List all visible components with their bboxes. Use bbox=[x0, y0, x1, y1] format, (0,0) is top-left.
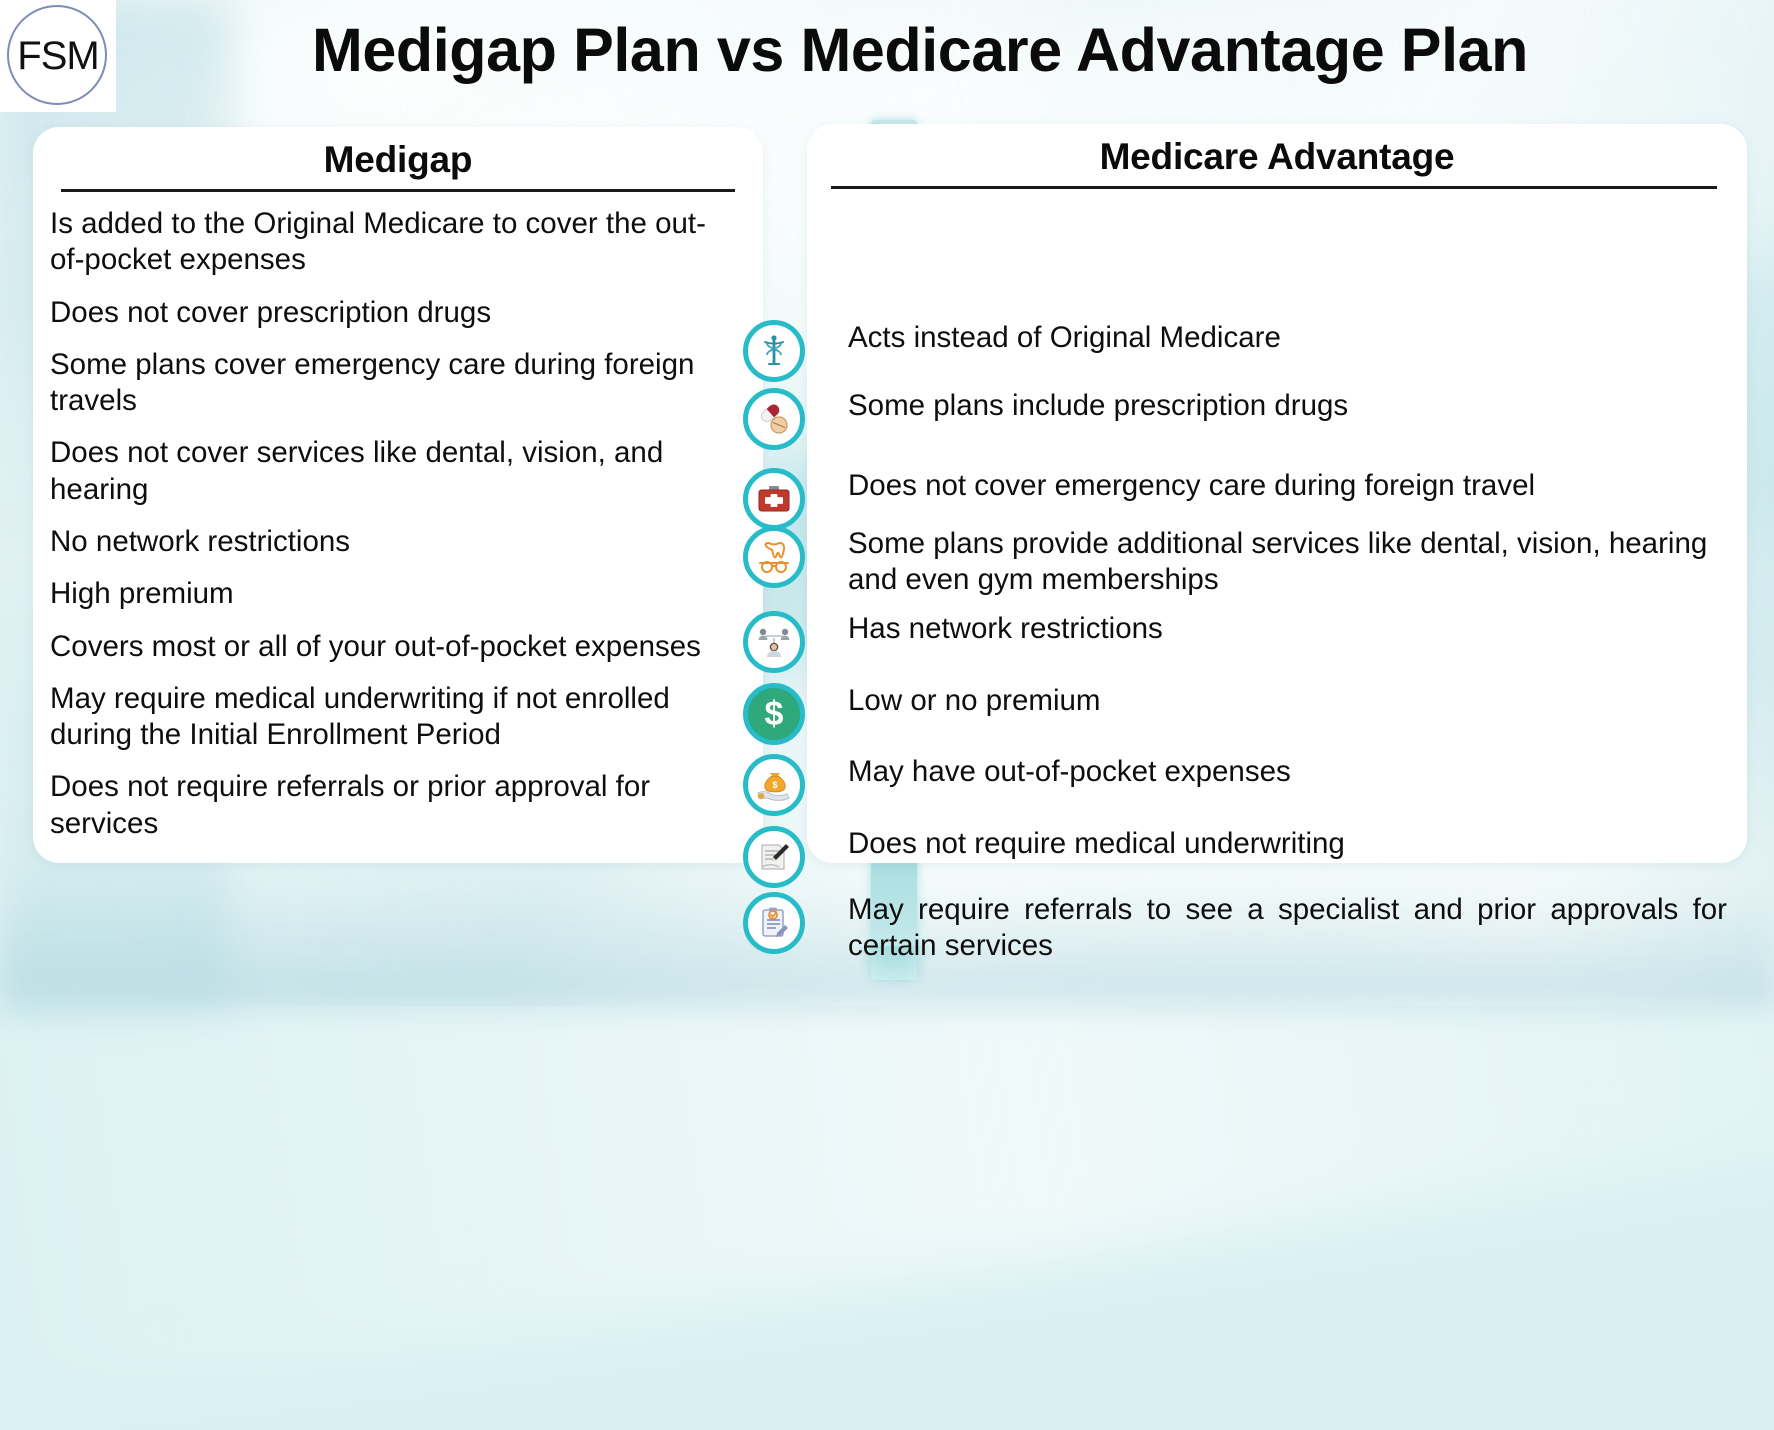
medicare-advantage-feature-text: Does not require medical underwriting bbox=[807, 826, 1747, 862]
medicare-advantage-feature-text: Some plans provide additional services l… bbox=[807, 526, 1747, 599]
clipboard-approval-icon bbox=[743, 892, 805, 954]
logo-text: FSM bbox=[0, 0, 116, 112]
medicare-advantage-feature-row: Does not require medical underwriting bbox=[807, 826, 1747, 862]
medicare-advantage-feature-list: Acts instead of Original Medicare Some p… bbox=[807, 313, 1747, 863]
dollar-coin-icon: $ bbox=[743, 683, 805, 745]
money-bag-hand-icon: $ bbox=[743, 754, 805, 816]
medicare-advantage-feature-text: May require referrals to see a specialis… bbox=[807, 892, 1747, 965]
medicare-advantage-feature-row: Has network restrictions bbox=[807, 611, 1747, 647]
medigap-feature-item: Does not require referrals or prior appr… bbox=[50, 769, 739, 842]
caduceus-icon bbox=[743, 320, 805, 382]
medicare-advantage-feature-text: Some plans include prescription drugs bbox=[807, 388, 1747, 424]
medicare-advantage-feature-text: May have out-of-pocket expenses bbox=[807, 754, 1747, 790]
medicare-advantage-feature-row: Does not cover emergency care during for… bbox=[807, 468, 1747, 504]
medicare-advantage-feature-text: Low or no premium bbox=[807, 683, 1747, 719]
medicare-advantage-feature-row: Some plans provide additional services l… bbox=[807, 526, 1747, 599]
medigap-feature-item: Does not cover services like dental, vis… bbox=[50, 435, 739, 508]
medigap-feature-list: Is added to the Original Medicare to cov… bbox=[33, 192, 763, 842]
medicare-advantage-heading-rule bbox=[831, 186, 1717, 189]
medicare-advantage-feature-row: May require referrals to see a specialis… bbox=[807, 892, 1747, 965]
pills-icon bbox=[743, 388, 805, 450]
medicare-advantage-feature-row: Some plans include prescription drugs bbox=[807, 388, 1747, 424]
first-aid-kit-icon bbox=[743, 468, 805, 530]
medigap-heading: Medigap bbox=[33, 127, 763, 181]
medicare-advantage-feature-text: Does not cover emergency care during for… bbox=[807, 468, 1747, 504]
medigap-feature-item: Does not cover prescription drugs bbox=[50, 295, 739, 331]
medigap-feature-item: No network restrictions bbox=[50, 524, 739, 560]
page-title: Medigap Plan vs Medicare Advantage Plan bbox=[140, 20, 1700, 81]
medicare-advantage-heading: Medicare Advantage bbox=[807, 124, 1747, 178]
medigap-feature-item: Some plans cover emergency care during f… bbox=[50, 347, 739, 420]
fsm-logo: FSM bbox=[0, 0, 116, 112]
svg-text:$: $ bbox=[772, 780, 777, 790]
dollar-sign-glyph: $ bbox=[765, 697, 784, 731]
document-pen-icon bbox=[743, 826, 805, 888]
medicare-advantage-feature-text: Acts instead of Original Medicare bbox=[807, 320, 1747, 356]
dental-vision-icon bbox=[743, 526, 805, 588]
network-people-icon bbox=[743, 611, 805, 673]
medigap-feature-item: High premium bbox=[50, 576, 739, 612]
medicare-advantage-feature-text: Has network restrictions bbox=[807, 611, 1747, 647]
medigap-feature-item: Covers most or all of your out-of-pocket… bbox=[50, 629, 739, 665]
medicare-advantage-feature-row: $Low or no premium bbox=[807, 683, 1747, 719]
medigap-feature-item: Is added to the Original Medicare to cov… bbox=[50, 206, 739, 279]
medigap-card: Medigap Is added to the Original Medicar… bbox=[33, 127, 763, 863]
medigap-feature-item: May require medical underwriting if not … bbox=[50, 681, 739, 754]
medicare-advantage-feature-row: Acts instead of Original Medicare bbox=[807, 320, 1747, 356]
medicare-advantage-card: Medicare Advantage Acts instead of Origi… bbox=[807, 124, 1747, 863]
medicare-advantage-feature-row: $ May have out-of-pocket expenses bbox=[807, 754, 1747, 790]
